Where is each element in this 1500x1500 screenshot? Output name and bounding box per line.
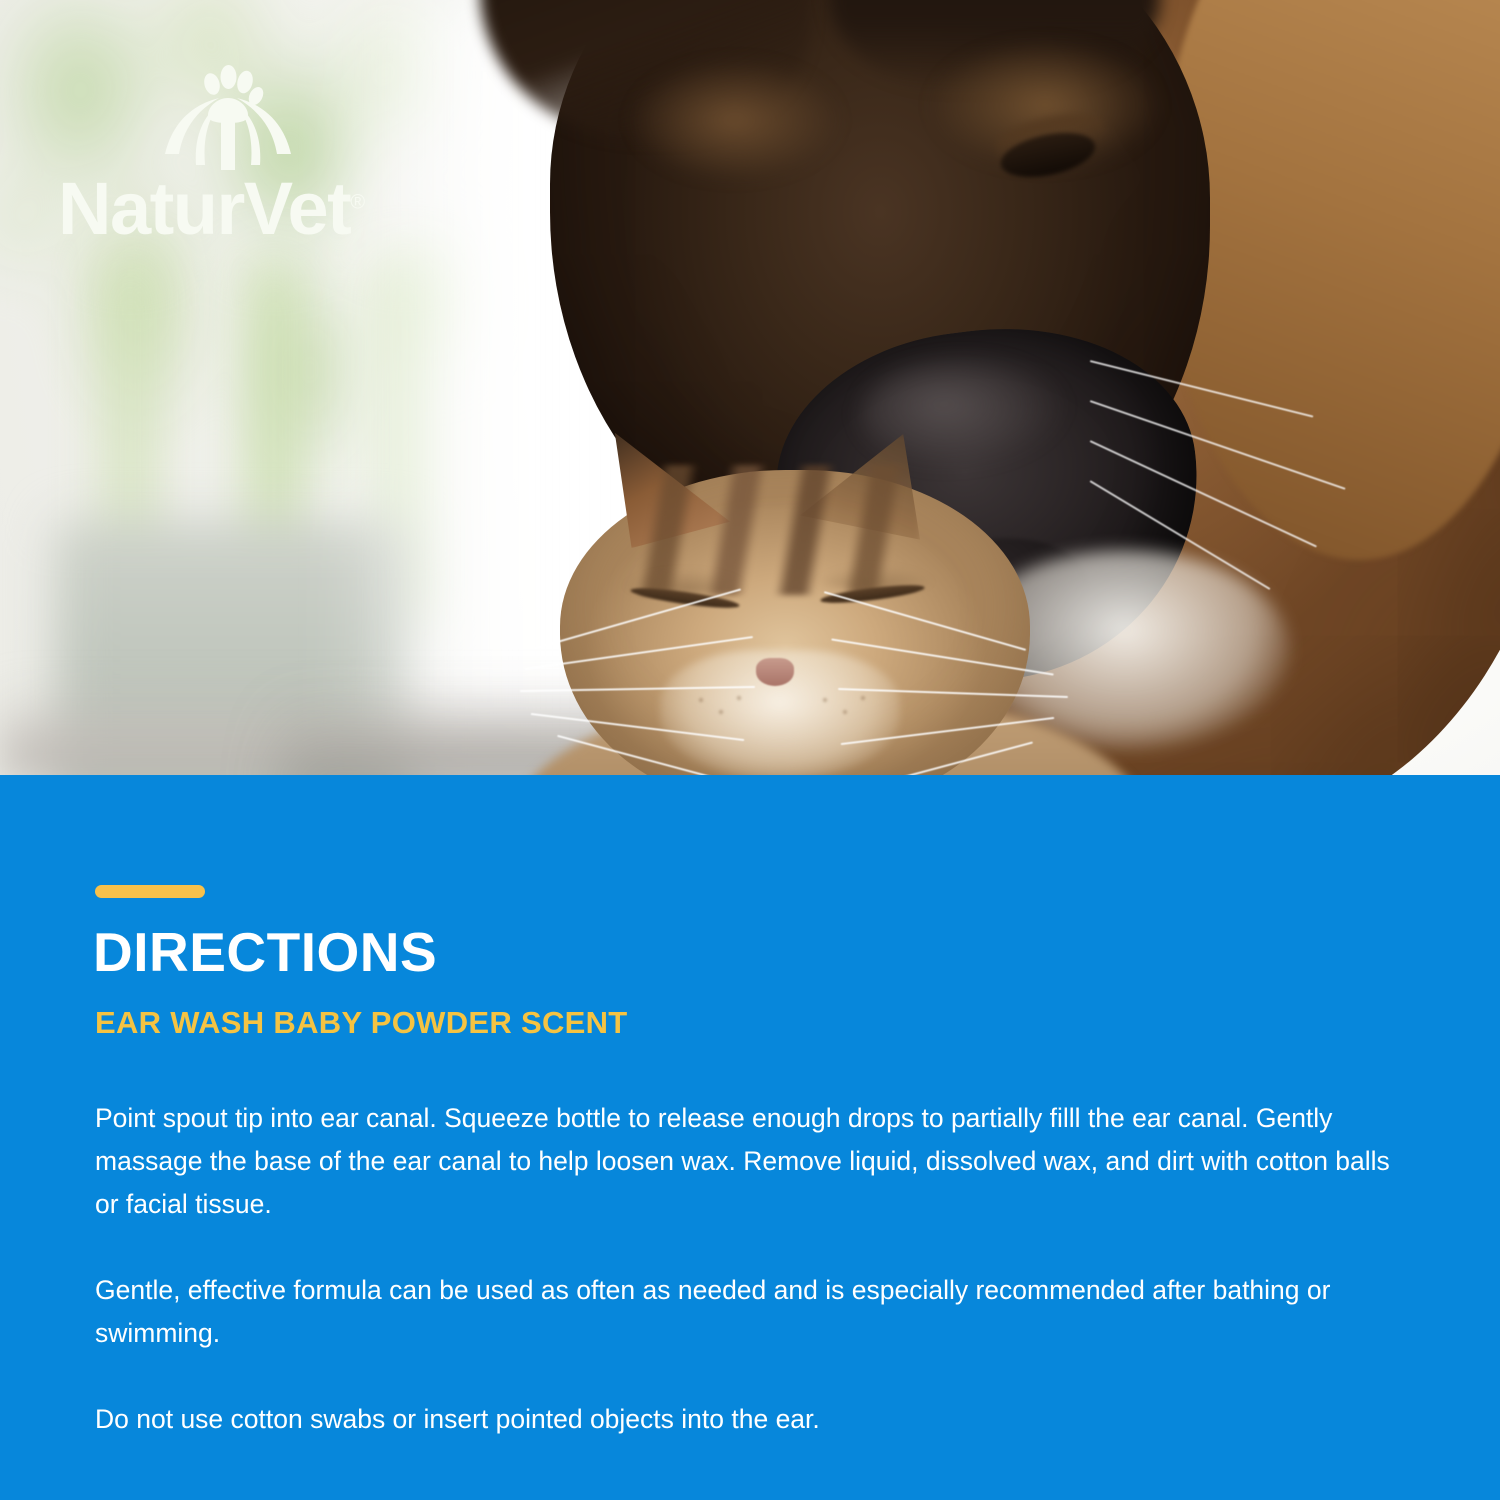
directions-paragraph-3: Do not use cotton swabs or insert pointe… <box>95 1398 1395 1441</box>
directions-body: Point spout tip into ear canal. Squeeze … <box>95 1097 1395 1441</box>
brand-wordmark: NaturVet® <box>58 172 398 246</box>
dog-whiskers <box>1090 340 1470 580</box>
product-subtitle: EAR WASH BABY POWDER SCENT <box>95 1007 628 1038</box>
cat-whiskers <box>520 580 1140 775</box>
directions-panel: DIRECTIONS EAR WASH BABY POWDER SCENT Po… <box>0 775 1500 1500</box>
cat-photo <box>520 410 1140 775</box>
brand-logo: NaturVet® <box>58 62 398 252</box>
dog-brow-left <box>630 60 840 180</box>
page-title: DIRECTIONS <box>93 925 437 980</box>
product-info-graphic: NaturVet® DIRECTIONS EAR WASH BABY POWDE… <box>0 0 1500 1500</box>
directions-paragraph-2: Gentle, effective formula can be used as… <box>95 1269 1395 1355</box>
hero-photo: NaturVet® <box>0 0 1500 775</box>
directions-paragraph-1: Point spout tip into ear canal. Squeeze … <box>95 1097 1395 1226</box>
paw-grass-icon <box>163 62 293 170</box>
brand-name: NaturVet <box>58 167 350 250</box>
accent-dash <box>95 885 205 898</box>
registered-mark: ® <box>350 191 365 213</box>
